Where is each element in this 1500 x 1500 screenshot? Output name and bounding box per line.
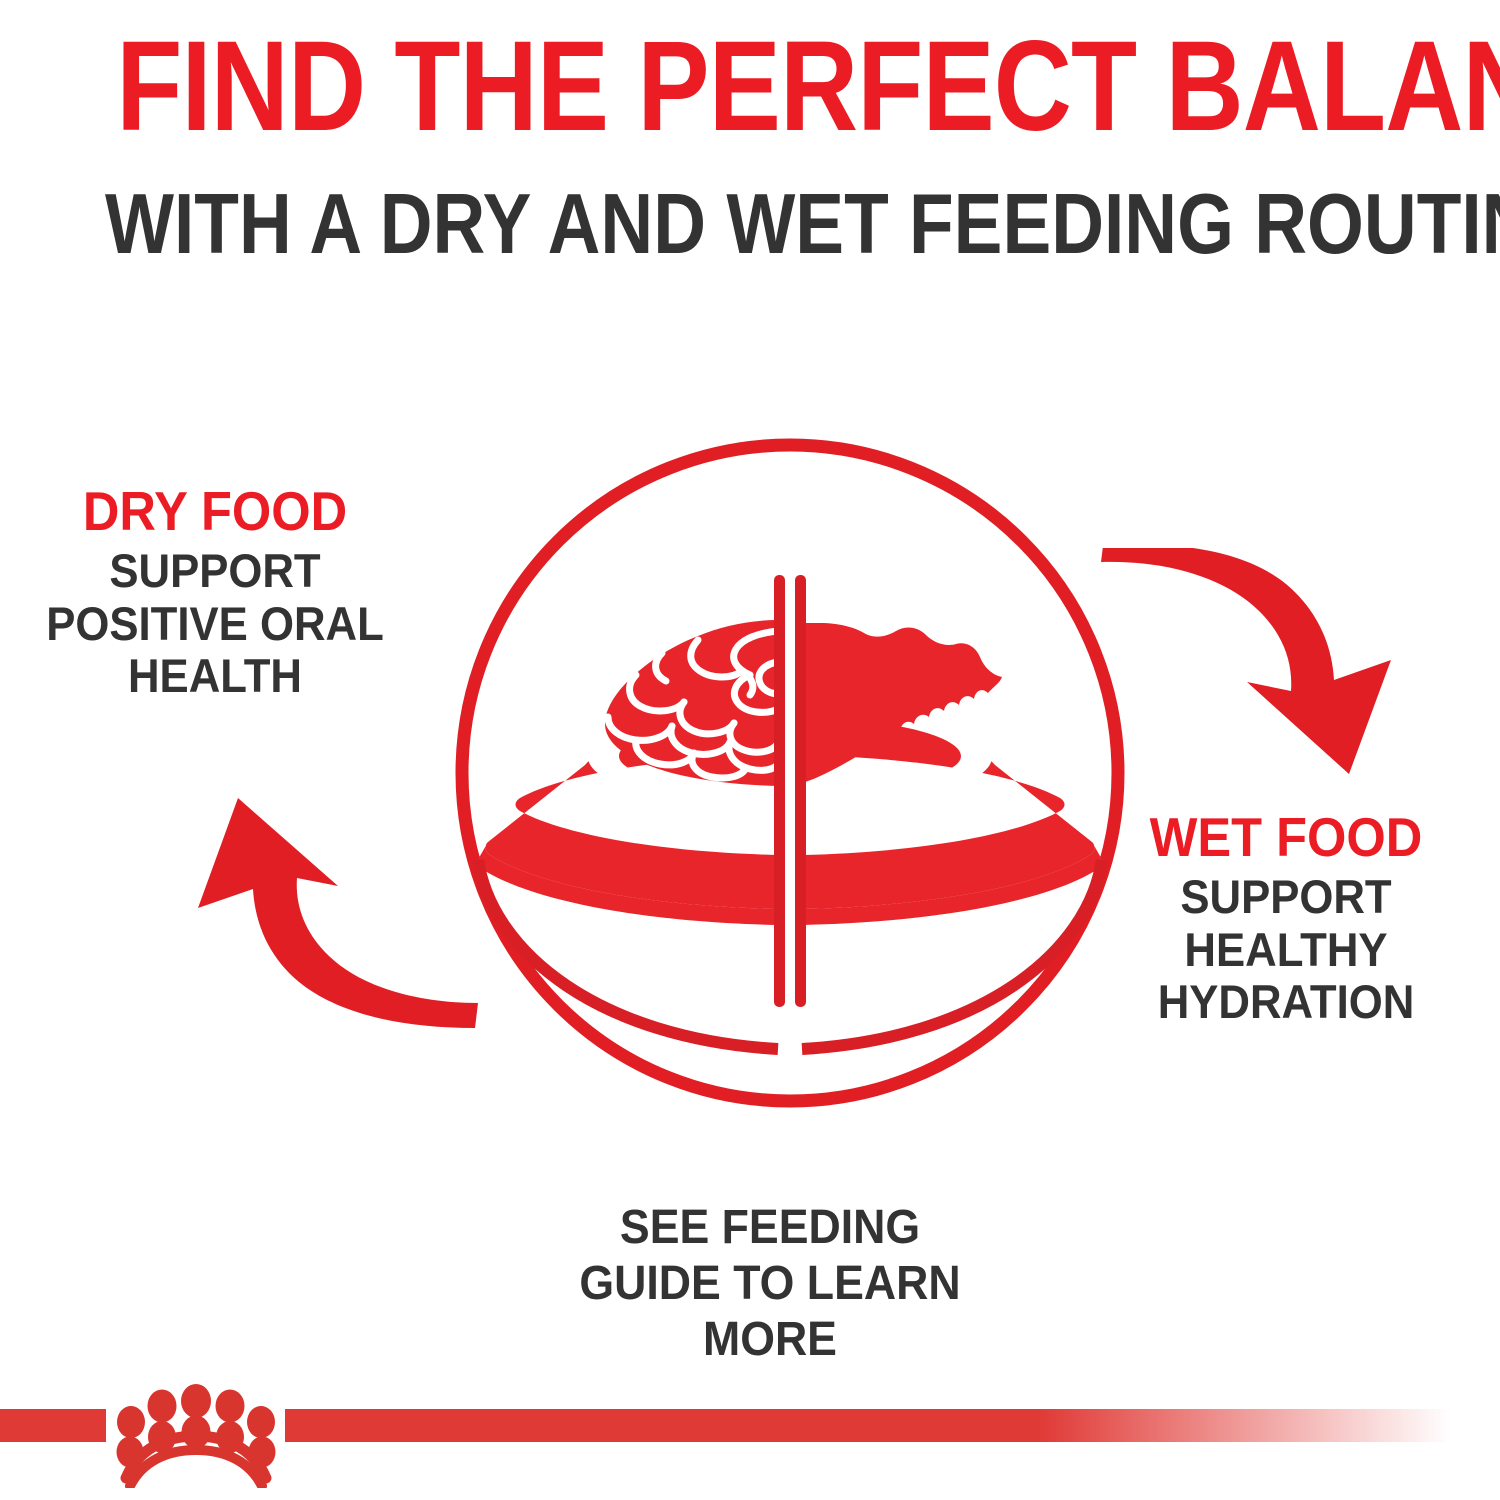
bowl-divider-left	[774, 575, 785, 1007]
wet-food-description: SUPPORT HEALTHY HYDRATION	[1087, 871, 1485, 1029]
royal-canin-crown-logo	[104, 1382, 288, 1488]
page-subtitle: WITH A DRY AND WET FEEDING ROUTINE	[105, 180, 1395, 269]
curved-arrow-up-left-icon	[185, 790, 485, 1040]
footer-bar-right	[285, 1409, 1500, 1442]
pet-food-bowl-icon	[440, 425, 1140, 1125]
callout-dry-food: DRY FOOD SUPPORT POSITIVE ORAL HEALTH	[0, 484, 430, 703]
page-title: FIND THE PERFECT BALANCE	[116, 22, 1384, 153]
footer-bar-left	[0, 1409, 106, 1442]
dry-food-kicker: DRY FOOD	[17, 484, 413, 539]
bowl-divider-gap	[785, 575, 795, 1007]
bowl-divider-right	[795, 575, 806, 1007]
curved-arrow-down-right-icon	[1095, 548, 1395, 808]
feeding-guide-text: SEE FEEDING GUIDE TO LEARN MORE	[556, 1200, 984, 1368]
callout-feeding-guide: SEE FEEDING GUIDE TO LEARN MORE	[540, 1200, 1000, 1368]
wet-food-kicker: WET FOOD	[1089, 810, 1483, 865]
bowl-body	[478, 575, 1103, 1049]
dry-food-description: SUPPORT POSITIVE ORAL HEALTH	[15, 545, 415, 703]
footer	[0, 1382, 1500, 1500]
